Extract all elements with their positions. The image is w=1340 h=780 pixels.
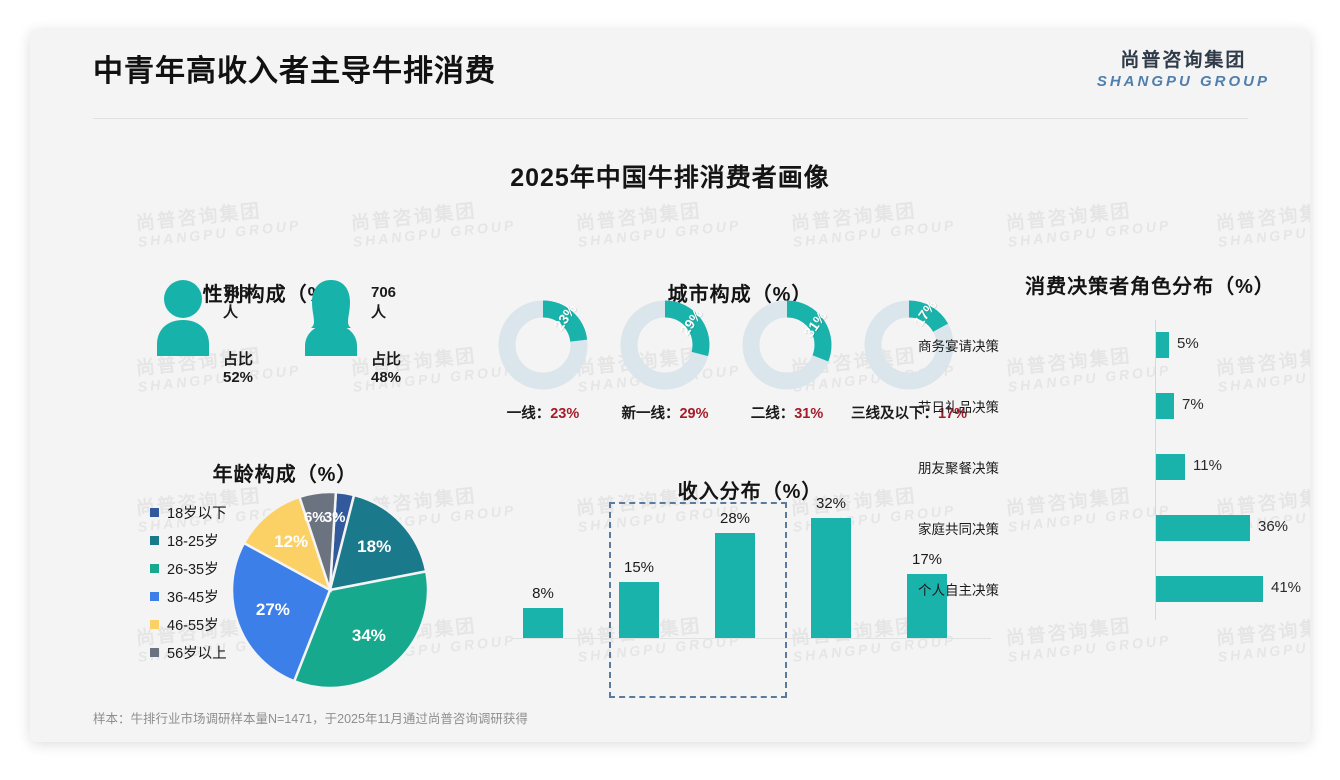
age-pie-value-5: 6% bbox=[304, 509, 326, 526]
decision-bar-4 bbox=[1156, 576, 1263, 602]
decision-row-0: 商务宴请决策5% bbox=[1005, 332, 1305, 358]
decision-bar-1 bbox=[1156, 393, 1174, 419]
decision-label-2: 朋友聚餐决策 bbox=[839, 457, 999, 477]
age-legend-label-0: 18岁以下 bbox=[167, 502, 227, 523]
page-title: 中青年高收入者主导牛排消费 bbox=[93, 46, 496, 90]
city-caption-1: 新一线：29% bbox=[621, 402, 708, 423]
city-donut-2: 31% bbox=[742, 300, 832, 390]
age-legend-label-5: 56岁以上 bbox=[167, 642, 227, 663]
decision-label-1: 节日礼品决策 bbox=[839, 396, 999, 416]
age-legend-item-4: 46-55岁 bbox=[150, 610, 227, 638]
age-legend: 18岁以下18-25岁26-35岁36-45岁46-55岁56岁以上 bbox=[150, 498, 227, 666]
income-bar-0 bbox=[523, 608, 563, 638]
decision-section: 商务宴请决策5%节日礼品决策7%朋友聚餐决策11%家庭共同决策36%个人自主决策… bbox=[1005, 270, 1305, 630]
income-bar-value-0: 8% bbox=[495, 585, 591, 602]
slide-header: 中青年高收入者主导牛排消费 尚普咨询集团 SHANGPU GROUP bbox=[30, 30, 1310, 100]
income-bar-value-2: 28% bbox=[687, 510, 783, 527]
income-bar-value-1: 15% bbox=[591, 559, 687, 576]
decision-value-4: 41% bbox=[1271, 579, 1301, 596]
sample-note: 样本：牛排行业市场调研样本量N=1471，于2025年11月通过尚普咨询调研获得 bbox=[93, 708, 528, 727]
age-legend-swatch-4 bbox=[150, 620, 159, 629]
decision-value-0: 5% bbox=[1177, 335, 1199, 352]
age-pie-value-1: 18% bbox=[357, 537, 391, 557]
decision-label-4: 个人自主决策 bbox=[839, 579, 999, 599]
age-pie-value-0: 3% bbox=[324, 509, 346, 526]
age-legend-swatch-3 bbox=[150, 592, 159, 601]
female-share: 占比48% bbox=[371, 348, 401, 386]
age-legend-label-4: 46-55岁 bbox=[167, 614, 219, 635]
age-pie-value-2: 34% bbox=[352, 626, 386, 646]
chart-subtitle: 2025年中国牛排消费者画像 bbox=[30, 158, 1310, 194]
city-caption-0: 一线：23% bbox=[507, 402, 580, 423]
income-baseline bbox=[513, 638, 991, 639]
logo-english: SHANGPU GROUP bbox=[1097, 73, 1270, 90]
slide-card: 尚普咨询集团SHANGPU GROUP尚普咨询集团SHANGPU GROUP尚普… bbox=[30, 30, 1310, 742]
income-bar-1 bbox=[619, 582, 659, 638]
watermark: 尚普咨询集团SHANGPU GROUP bbox=[790, 198, 957, 250]
watermark: 尚普咨询集团SHANGPU GROUP bbox=[1005, 198, 1172, 250]
age-legend-item-5: 56岁以上 bbox=[150, 638, 227, 666]
header-divider bbox=[93, 118, 1248, 119]
income-bar-2 bbox=[715, 533, 755, 638]
age-legend-item-0: 18岁以下 bbox=[150, 498, 227, 526]
decision-row-3: 家庭共同决策36% bbox=[1005, 515, 1305, 541]
brand-logo: 尚普咨询集团 SHANGPU GROUP bbox=[1097, 45, 1270, 90]
age-legend-label-1: 18-25岁 bbox=[167, 530, 219, 551]
age-legend-label-2: 26-35岁 bbox=[167, 558, 219, 579]
female-icon bbox=[303, 280, 359, 356]
city-caption-2: 二线：31% bbox=[751, 402, 824, 423]
age-legend-swatch-1 bbox=[150, 536, 159, 545]
logo-chinese: 尚普咨询集团 bbox=[1097, 45, 1270, 72]
decision-row-1: 节日礼品决策7% bbox=[1005, 393, 1305, 419]
age-legend-swatch-2 bbox=[150, 564, 159, 573]
decision-value-3: 36% bbox=[1258, 518, 1288, 535]
decision-label-3: 家庭共同决策 bbox=[839, 518, 999, 538]
watermark: 尚普咨询集团SHANGPU GROUP bbox=[575, 198, 742, 250]
decision-label-0: 商务宴请决策 bbox=[839, 335, 999, 355]
age-legend-item-3: 36-45岁 bbox=[150, 582, 227, 610]
city-donut-1: 29% bbox=[620, 300, 710, 390]
age-pie-chart: 3%18%34%27%12%6% bbox=[230, 490, 430, 690]
female-stats: 706人 占比48% bbox=[371, 284, 401, 386]
city-donut-0: 23% bbox=[498, 300, 588, 390]
gender-section: 765人 占比52% 706人 占比48% bbox=[110, 240, 440, 380]
age-section: 18岁以下18-25岁26-35岁36-45岁46-55岁56岁以上 3%18%… bbox=[110, 430, 460, 695]
age-pie-value-3: 27% bbox=[256, 600, 290, 620]
age-legend-swatch-0 bbox=[150, 508, 159, 517]
male-share: 占比52% bbox=[223, 348, 253, 386]
age-pie-value-4: 12% bbox=[274, 532, 308, 552]
female-count: 706人 bbox=[371, 284, 401, 322]
decision-value-1: 7% bbox=[1182, 396, 1204, 413]
decision-bar-3 bbox=[1156, 515, 1250, 541]
male-count: 765人 bbox=[223, 284, 253, 322]
decision-row-2: 朋友聚餐决策11% bbox=[1005, 454, 1305, 480]
watermark: 尚普咨询集团SHANGPU GROUP bbox=[1215, 198, 1310, 250]
age-legend-item-2: 26-35岁 bbox=[150, 554, 227, 582]
age-legend-label-3: 36-45岁 bbox=[167, 586, 219, 607]
male-icon bbox=[155, 280, 211, 356]
income-bar-value-3: 32% bbox=[783, 495, 879, 512]
decision-value-2: 11% bbox=[1193, 457, 1222, 474]
male-stats: 765人 占比52% bbox=[223, 284, 253, 386]
decision-bar-2 bbox=[1156, 454, 1185, 480]
age-legend-item-1: 18-25岁 bbox=[150, 526, 227, 554]
decision-row-4: 个人自主决策41% bbox=[1005, 576, 1305, 602]
income-bar-value-4: 17% bbox=[879, 551, 975, 568]
age-legend-swatch-5 bbox=[150, 648, 159, 657]
decision-bar-0 bbox=[1156, 332, 1169, 358]
